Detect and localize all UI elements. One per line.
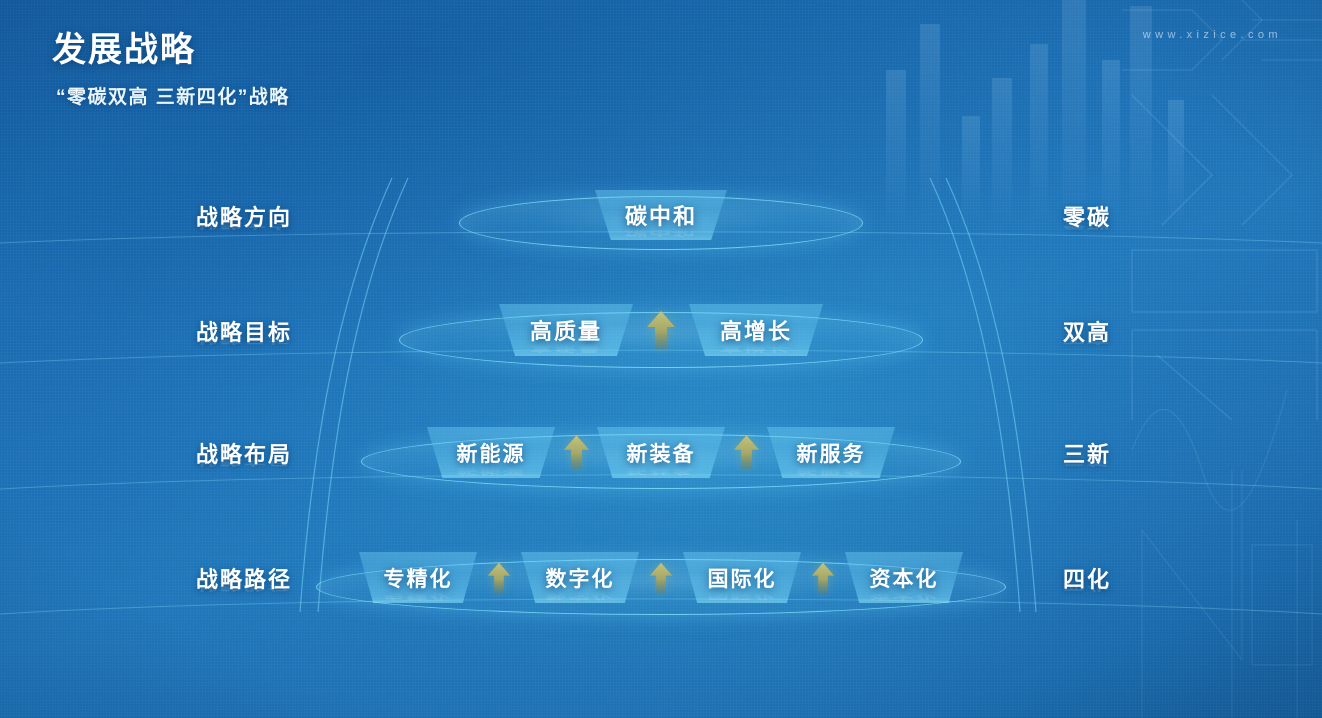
- arrow-up-icon: [725, 427, 767, 478]
- item-box[interactable]: 碳中和: [595, 190, 727, 240]
- item-cell: 国际化 国际化: [683, 552, 801, 603]
- row-right-label: 零碳 零碳: [1063, 200, 1111, 265]
- item-box[interactable]: 高质量: [499, 304, 633, 356]
- item-box[interactable]: 新能源: [427, 427, 555, 478]
- row-items: 高质量 高质量: [499, 298, 823, 356]
- row-right-label-reflection: 零碳: [1063, 215, 1111, 233]
- strategy-funnel-diagram: 战略方向 战略方向 零碳 零碳 碳中和 碳中和 战略目标 战略目标 双高: [0, 0, 1322, 718]
- row-left-label: 战略方向 战略方向: [196, 200, 292, 265]
- row-right-label: 三新 三新: [1063, 437, 1111, 502]
- item-box[interactable]: 资本化: [845, 552, 963, 603]
- diagram-row: 战略路径 战略路径 四化 四化 专精化 专精化: [0, 548, 1322, 658]
- item-cell: 资本化 资本化: [845, 552, 963, 603]
- item-box[interactable]: 专精化: [359, 552, 477, 603]
- row-left-label: 战略布局 战略布局: [196, 437, 292, 502]
- row-left-label-reflection: 战略目标: [196, 330, 292, 348]
- item-cell: 专精化 专精化: [359, 552, 477, 603]
- item-box[interactable]: 高增长: [689, 304, 823, 356]
- arrow-up-icon: [555, 427, 597, 478]
- row-items: 专精化 专精化 数字化 数字化: [359, 546, 963, 603]
- item-label: 高质量: [530, 314, 602, 346]
- arrow-up-icon: [801, 552, 845, 603]
- item-cell: 新装备 新装备: [597, 427, 725, 478]
- row-left-label: 战略目标 战略目标: [196, 315, 292, 380]
- item-label: 国际化: [708, 563, 777, 593]
- item-cell: 新能源 新能源: [427, 427, 555, 478]
- row-items: 碳中和 碳中和: [595, 184, 727, 240]
- item-cell: 碳中和 碳中和: [595, 190, 727, 240]
- item-label: 碳中和: [625, 199, 697, 231]
- item-cell: 新服务 新服务: [767, 427, 895, 478]
- item-box[interactable]: 新服务: [767, 427, 895, 478]
- row-right-label-reflection: 四化: [1063, 577, 1111, 595]
- row-right-label: 四化 四化: [1063, 562, 1111, 627]
- row-right-label-reflection: 三新: [1063, 452, 1111, 470]
- diagram-row: 战略布局 战略布局 三新 三新 新能源 新能源: [0, 423, 1322, 533]
- row-items: 新能源 新能源 新装备 新装备: [427, 421, 895, 478]
- item-cell: 高增长 高增长: [689, 304, 823, 356]
- item-box[interactable]: 新装备: [597, 427, 725, 478]
- item-label: 资本化: [870, 563, 939, 593]
- item-box[interactable]: 国际化: [683, 552, 801, 603]
- item-label: 高增长: [720, 314, 792, 346]
- item-label: 新能源: [457, 438, 526, 468]
- row-left-label-reflection: 战略布局: [196, 452, 292, 470]
- row-right-label-reflection: 双高: [1063, 330, 1111, 348]
- row-left-label-reflection: 战略路径: [196, 577, 292, 595]
- diagram-row: 战略目标 战略目标 双高 双高 高质量 高质量: [0, 300, 1322, 410]
- item-cell: 数字化 数字化: [521, 552, 639, 603]
- row-right-label: 双高 双高: [1063, 315, 1111, 380]
- item-label: 新装备: [627, 438, 696, 468]
- arrow-up-icon: [639, 552, 683, 603]
- item-cell: 高质量 高质量: [499, 304, 633, 356]
- row-left-label-reflection: 战略方向: [196, 215, 292, 233]
- item-label: 专精化: [384, 563, 453, 593]
- row-left-label: 战略路径 战略路径: [196, 562, 292, 627]
- item-box[interactable]: 数字化: [521, 552, 639, 603]
- item-label: 数字化: [546, 563, 615, 593]
- arrow-up-icon: [477, 552, 521, 603]
- arrow-up-icon: [633, 304, 689, 356]
- diagram-row: 战略方向 战略方向 零碳 零碳 碳中和 碳中和: [0, 186, 1322, 296]
- item-label: 新服务: [797, 438, 866, 468]
